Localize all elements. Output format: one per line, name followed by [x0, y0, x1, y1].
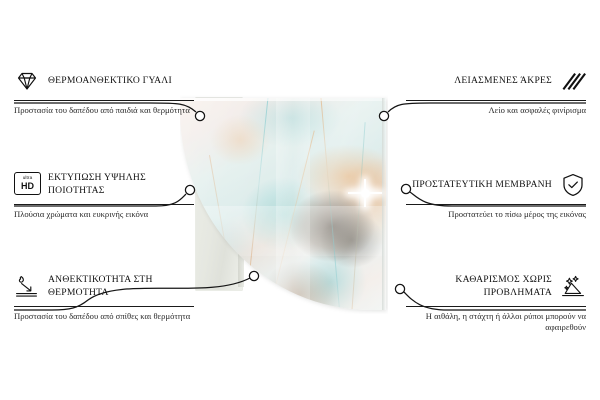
feature-heat-resistant-glass: ΘΕΡΜΟΑΝΘΕΚΤΙΚΟ ΓΥΑΛΙ Προστασία του δαπέδ…: [14, 66, 194, 116]
feature-divider: [14, 100, 194, 101]
glass-top-edge: [180, 98, 386, 101]
smooth-edges-icon: [560, 68, 586, 94]
feature-smooth-edges: ΛΕΙΑΣΜΕΝΕΣ ΆΚΡΕΣ Λείο και ασφαλές φινίρι…: [406, 66, 586, 116]
feature-protective-membrane: ΠΡΟΣΤΑΤΕΥΤΙΚΗ ΜΕΜΒΡΑΝΗ Προστατεύει το πί…: [406, 170, 586, 220]
feature-high-quality-print: ultra HD ΕΚΤΥΠΩΣΗ ΥΨΗΛΗΣ ΠΟΙΟΤΗΤΑΣ Πλούσ…: [14, 170, 194, 220]
feature-title: ΠΡΟΣΤΑΤΕΥΤΙΚΗ ΜΕΜΒΡΑΝΗ: [412, 179, 552, 192]
feature-divider: [14, 306, 194, 307]
feature-description: Λείο και ασφαλές φινίρισμα: [406, 105, 586, 116]
feature-description: Προστασία του δαπέδου από παιδιά και θερ…: [14, 105, 194, 116]
heat-resistance-icon: [14, 274, 40, 300]
glass-panel: [180, 98, 386, 310]
ultra-hd-icon: ultra HD: [14, 172, 40, 198]
feature-title: ΕΚΤΥΠΩΣΗ ΥΨΗΛΗΣ ΠΟΙΟΤΗΤΑΣ: [48, 172, 194, 197]
feature-title: ΘΕΡΜΟΑΝΘΕΚΤΙΚΟ ΓΥΑΛΙ: [48, 75, 172, 88]
product-image: [180, 88, 420, 320]
feature-easy-cleaning: ΚΑΘΑΡΙΣΜΟΣ ΧΩΡΙΣ ΠΡΟΒΛΗΜΑΤΑ Η αιθάλη, η …: [406, 272, 586, 333]
feature-title: ΛΕΙΑΣΜΕΝΕΣ ΆΚΡΕΣ: [454, 75, 552, 88]
marble-artwork: [180, 98, 386, 310]
glass-right-edge: [382, 98, 386, 310]
feature-divider: [406, 204, 586, 205]
feature-description: Η αιθάλη, η στάχτη ή άλλοι ρύποι μπορούν…: [406, 311, 586, 333]
ultra-hd-icon-bottom-label: HD: [21, 182, 34, 191]
infographic-stage: ΘΕΡΜΟΑΝΘΕΚΤΙΚΟ ΓΥΑΛΙ Προστασία του δαπέδ…: [0, 0, 600, 400]
feature-divider: [406, 306, 586, 307]
shield-check-icon: [560, 172, 586, 198]
glass-panel-clip: [180, 88, 388, 314]
diamond-icon: [14, 68, 40, 94]
feature-description: Πλούσια χρώματα και ευκρινής εικόνα: [14, 209, 194, 220]
feature-description: Προστατεύει το πίσω μέρος της εικόνας: [406, 209, 586, 220]
feature-heat-durability: ΑΝΘΕΚΤΙΚΟΤΗΤΑ ΣΤΗ ΘΕΡΜΟΤΗΤΑ Προστασία το…: [14, 272, 194, 322]
feature-description: Προστασία του δαπέδου από σπίθες και θερ…: [14, 311, 194, 322]
feature-title: ΑΝΘΕΚΤΙΚΟΤΗΤΑ ΣΤΗ ΘΕΡΜΟΤΗΤΑ: [48, 274, 194, 299]
feature-divider: [14, 204, 194, 205]
feature-title: ΚΑΘΑΡΙΣΜΟΣ ΧΩΡΙΣ ΠΡΟΒΛΗΜΑΤΑ: [406, 274, 552, 299]
feature-divider: [406, 100, 586, 101]
easy-clean-icon: [560, 274, 586, 300]
